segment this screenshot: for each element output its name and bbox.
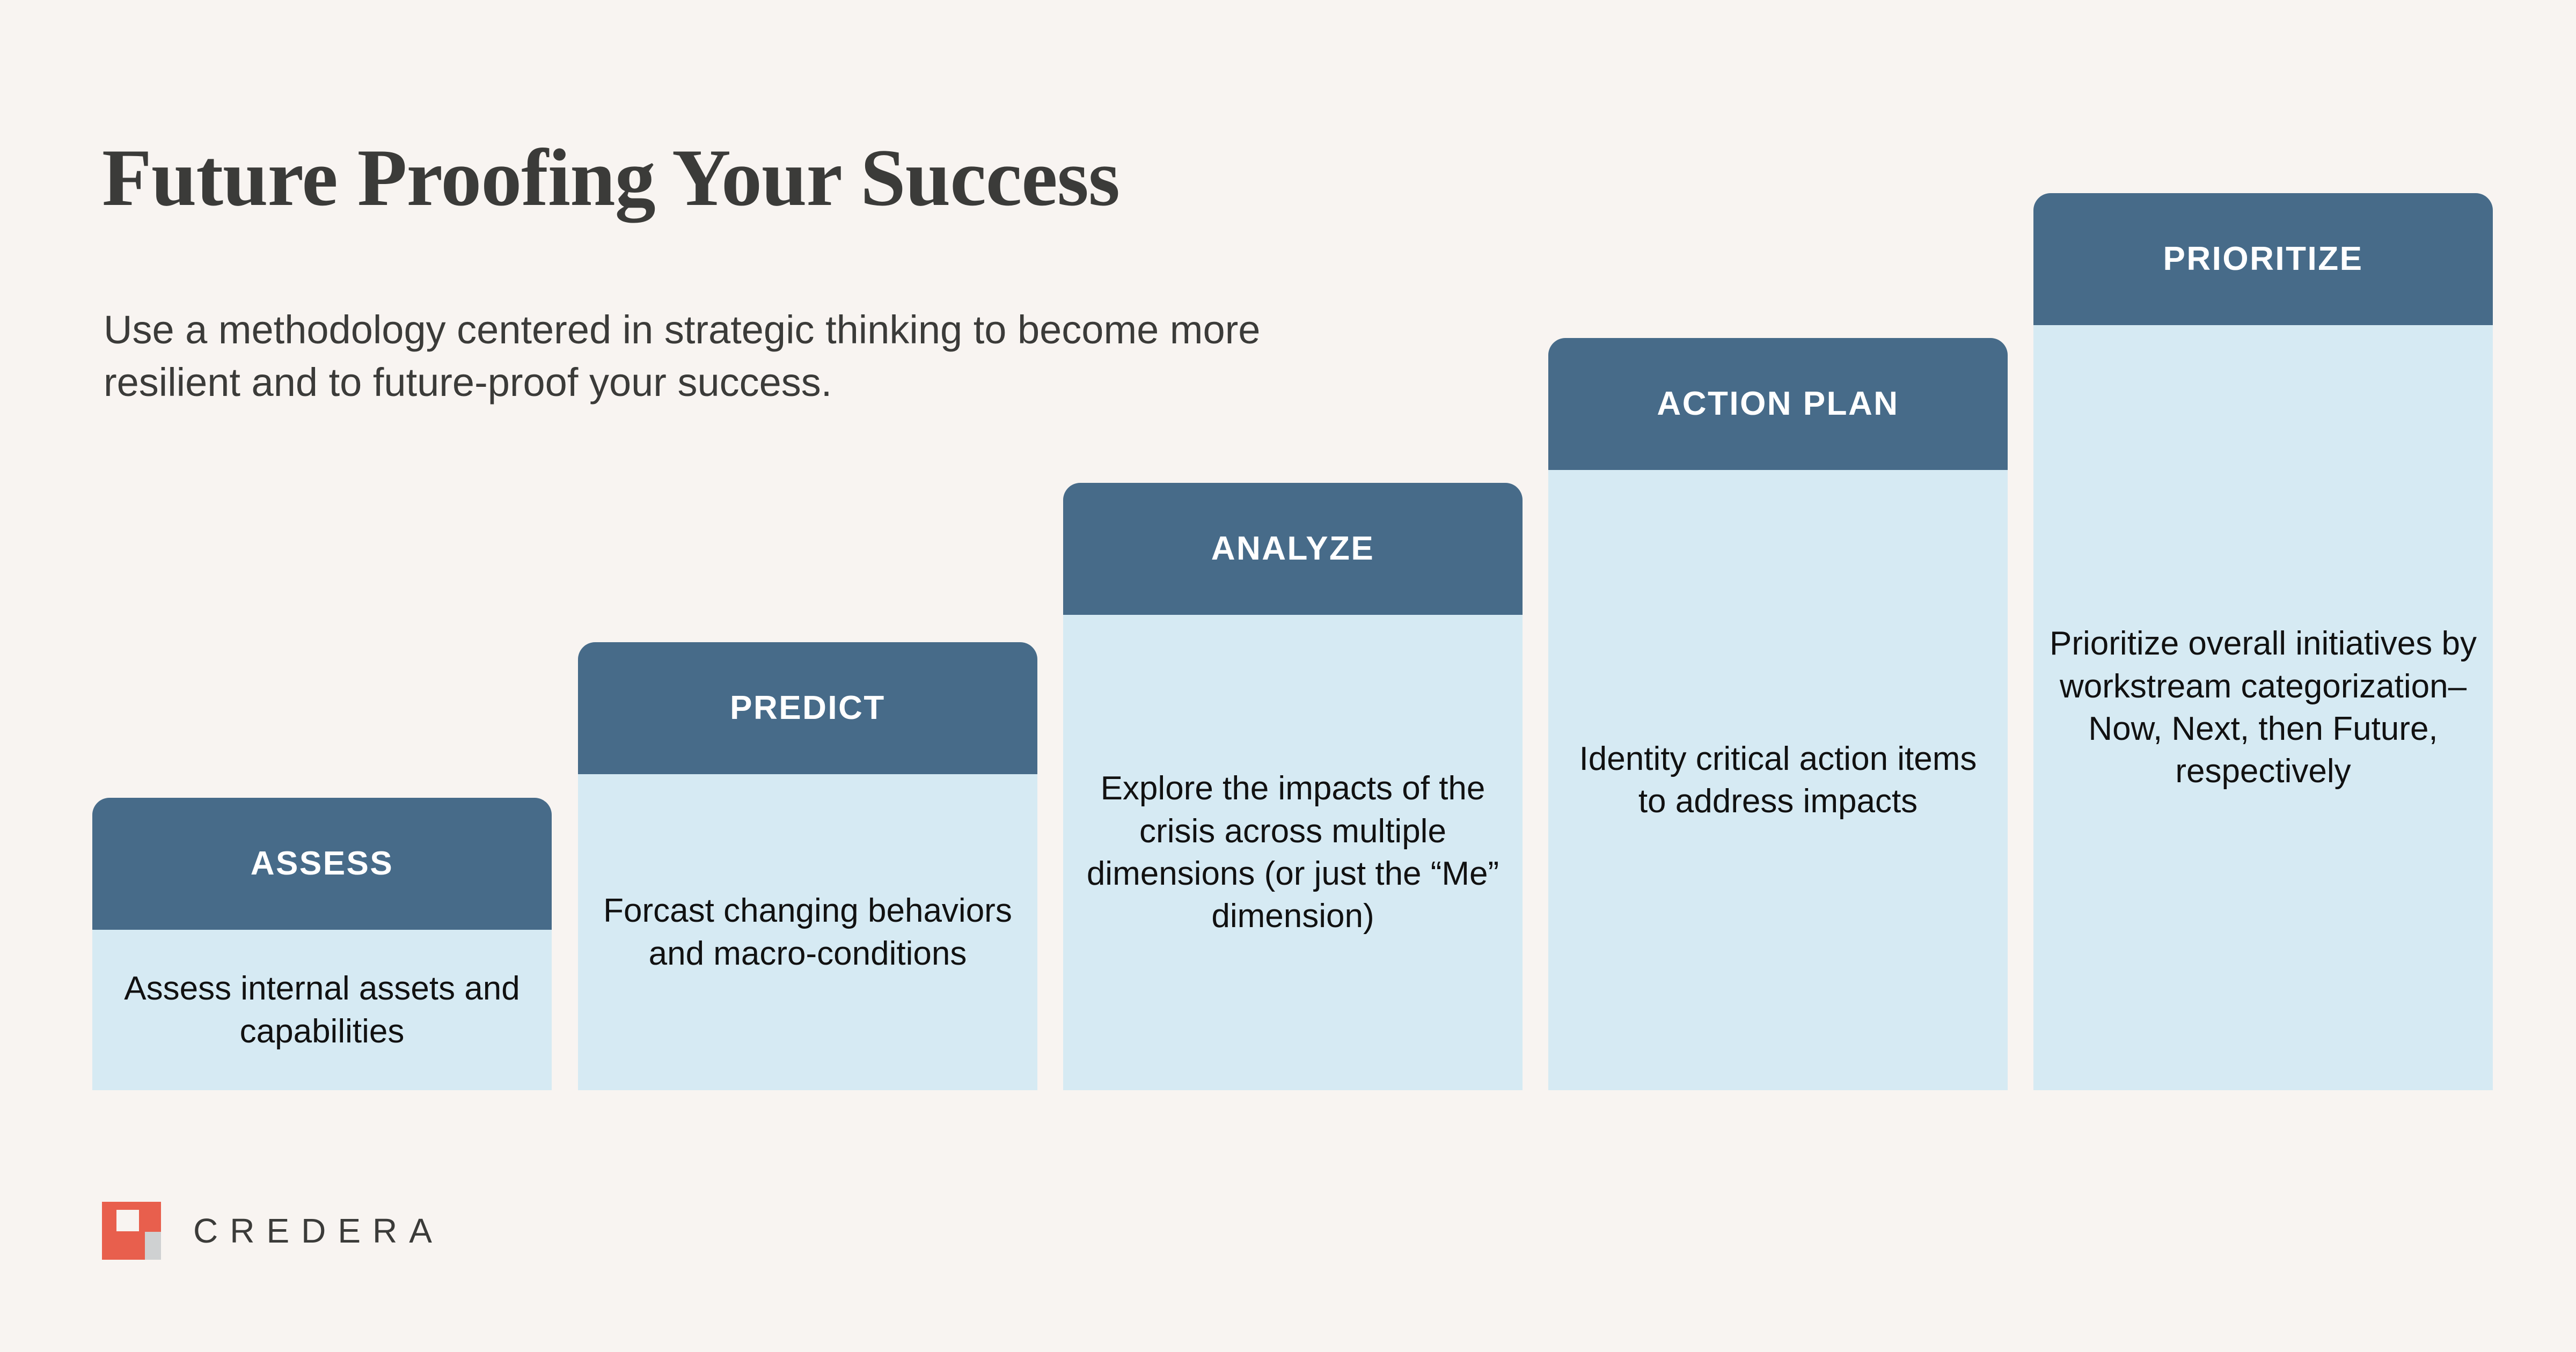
step-label-assess: ASSESS <box>251 846 394 882</box>
step-body-predict: Forcast changing behaviors and macro-con… <box>578 774 1037 1090</box>
step-description-action-plan: Identity critical action items to addres… <box>1562 738 1994 823</box>
credera-mark-icon <box>102 1202 161 1260</box>
step-description-assess: Assess internal assets and capabilities <box>106 967 538 1053</box>
step-bar-analyze: ANALYZE Explore the impacts of the crisi… <box>1063 483 1523 1090</box>
step-body-assess: Assess internal assets and capabilities <box>92 930 552 1090</box>
step-header-prioritize: PRIORITIZE <box>2033 193 2493 325</box>
step-bar-predict: PREDICT Forcast changing behaviors and m… <box>578 642 1037 1090</box>
step-label-analyze: ANALYZE <box>1211 531 1375 567</box>
credera-wordmark: CREDERA <box>193 1211 444 1251</box>
step-bar-assess: ASSESS Assess internal assets and capabi… <box>92 798 552 1090</box>
step-label-action-plan: ACTION PLAN <box>1657 386 1899 422</box>
step-header-action-plan: ACTION PLAN <box>1548 338 2008 470</box>
logo-shape-gray-square <box>145 1232 161 1260</box>
step-bar-action-plan: ACTION PLAN Identity critical action ite… <box>1548 338 2008 1090</box>
logo-shape-notch <box>116 1210 139 1231</box>
step-body-prioritize: Prioritize overall initiatives by workst… <box>2033 325 2493 1090</box>
step-header-assess: ASSESS <box>92 798 552 930</box>
logo-shape-bottom <box>102 1230 151 1260</box>
credera-logo: CREDERA <box>102 1202 444 1260</box>
step-header-analyze: ANALYZE <box>1063 483 1523 615</box>
step-description-analyze: Explore the impacts of the crisis across… <box>1077 767 1509 937</box>
staircase-bar-chart: ASSESS Assess internal assets and capabi… <box>0 0 2576 1352</box>
infographic-canvas: Future Proofing Your Success Use a metho… <box>0 0 2576 1352</box>
step-label-predict: PREDICT <box>730 690 885 726</box>
step-description-predict: Forcast changing behaviors and macro-con… <box>592 890 1023 975</box>
step-body-action-plan: Identity critical action items to addres… <box>1548 470 2008 1090</box>
step-body-analyze: Explore the impacts of the crisis across… <box>1063 615 1523 1090</box>
step-bar-prioritize: PRIORITIZE Prioritize overall initiative… <box>2033 193 2493 1090</box>
step-header-predict: PREDICT <box>578 642 1037 774</box>
step-description-prioritize: Prioritize overall initiatives by workst… <box>2047 622 2479 792</box>
step-label-prioritize: PRIORITIZE <box>2163 241 2363 277</box>
